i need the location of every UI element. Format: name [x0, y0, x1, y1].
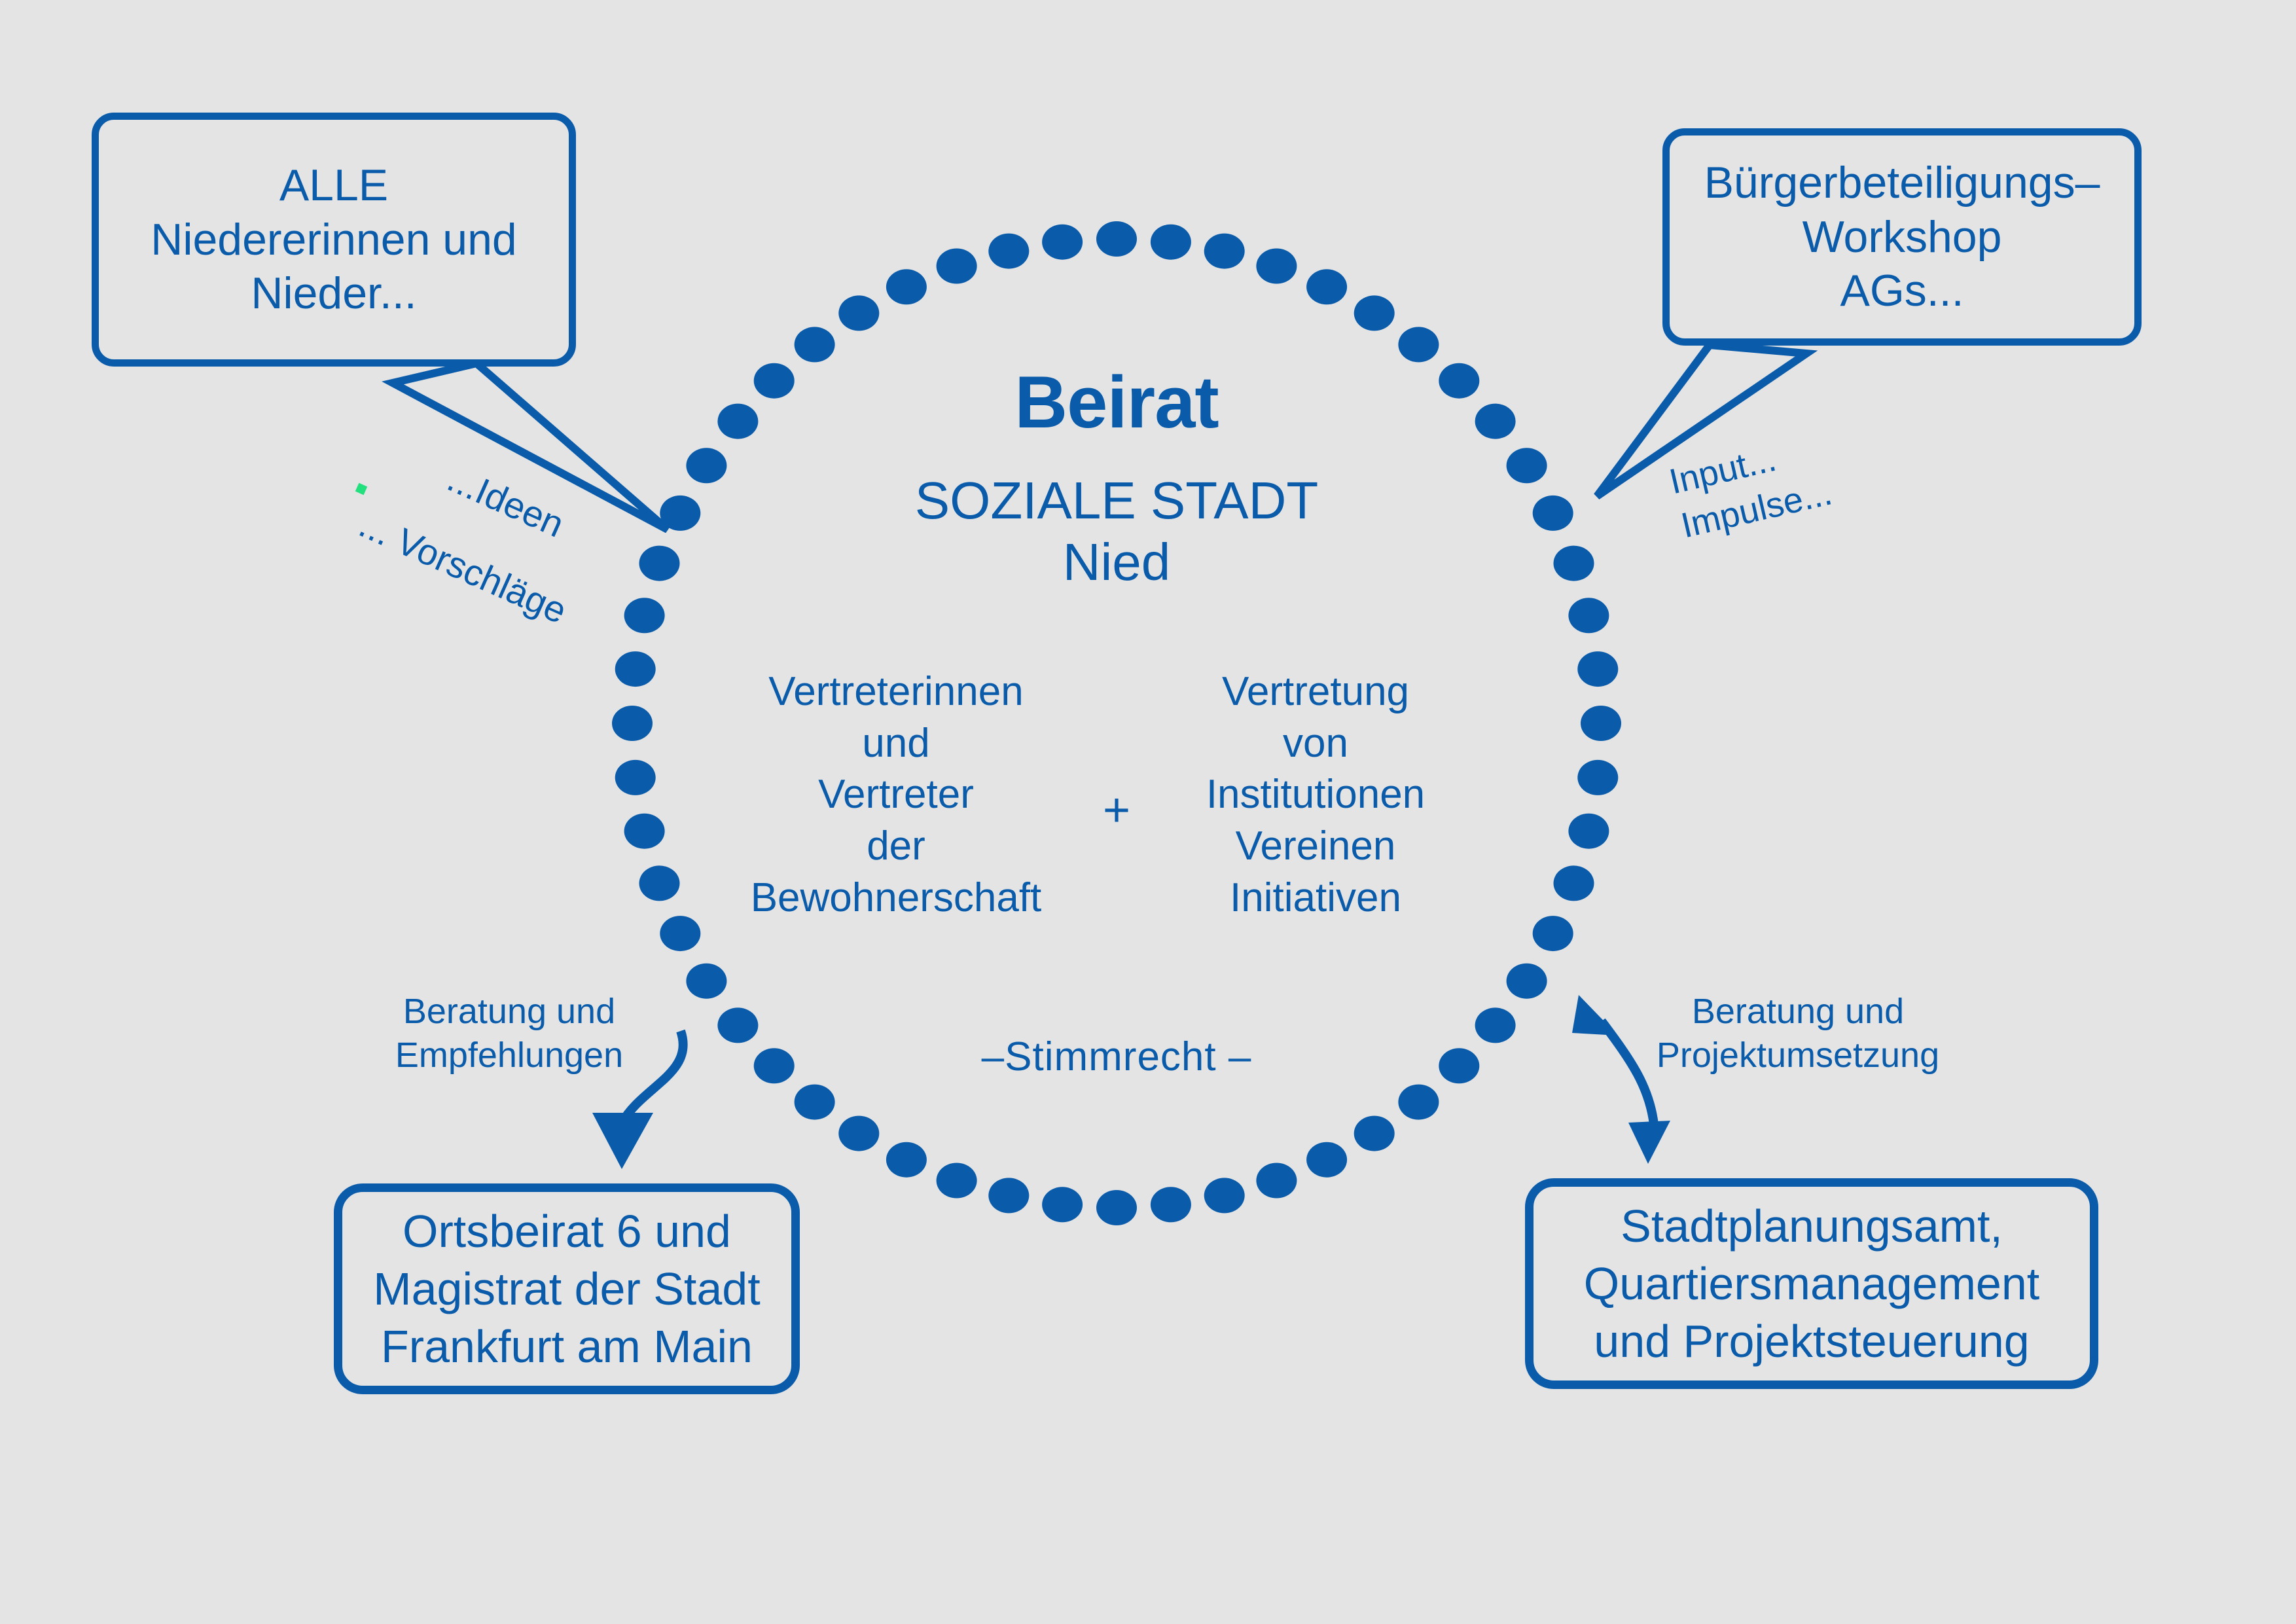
speech-bubble-buergerbeteiligung[interactable]: Bürgerbeteiligungs– Workshop AGs... — [1662, 128, 2142, 346]
speech-bubble-alle[interactable]: ALLE Niedererinnen und Nieder... — [92, 113, 576, 367]
circle-dot — [838, 295, 879, 331]
circle-dot — [1554, 865, 1594, 901]
center-column-right: Vertretung von Institutionen Vereinen In… — [1185, 666, 1446, 924]
circle-dot — [1042, 225, 1083, 260]
circle-dot — [612, 706, 653, 741]
circle-dot — [1398, 327, 1439, 362]
center-title: Beirat — [1014, 361, 1218, 443]
box-ortsbeirat-text: Ortsbeirat 6 und Magistrat der Stadt Fra… — [373, 1202, 760, 1376]
circle-dot — [1096, 221, 1137, 257]
circle-dot — [838, 1116, 879, 1151]
circle-dot — [1306, 269, 1347, 304]
circle-dot — [937, 1163, 977, 1199]
arrow-head-down-left — [592, 1113, 653, 1169]
circle-dot — [988, 234, 1029, 269]
circle-dot — [1507, 448, 1547, 483]
circle-dot — [615, 760, 656, 795]
center-plus-sign: + — [1103, 784, 1130, 837]
circle-dot — [1577, 651, 1618, 687]
circle-dot — [1204, 1178, 1245, 1213]
box-stadtplanungsamt-text: Stadtplanungsamt, Quartiersmanagement un… — [1584, 1197, 2039, 1371]
box-stadtplanungsamt[interactable]: Stadtplanungsamt, Quartiersmanagement un… — [1525, 1178, 2098, 1389]
circle-dot — [639, 865, 680, 901]
circle-dot — [1354, 1116, 1395, 1151]
speech-bubble-buergerbeteiligung-text: Bürgerbeteiligungs– Workshop AGs... — [1704, 156, 2100, 319]
circle-dot — [615, 651, 656, 687]
circle-dot — [660, 916, 700, 951]
circle-dot — [1475, 1007, 1516, 1043]
circle-dot — [937, 249, 977, 284]
green-marker-dot — [355, 483, 367, 495]
circle-dot — [686, 448, 726, 483]
circle-dot — [1439, 1048, 1479, 1083]
circle-dot — [1151, 225, 1191, 260]
center-subtitle: SOZIALE STADT Nied — [915, 470, 1318, 594]
circle-dot — [795, 327, 835, 362]
diagram-canvas: ALLE Niedererinnen und Nieder... Bürgerb… — [0, 0, 2296, 1624]
circle-dot — [686, 964, 726, 999]
circle-dot — [1568, 814, 1609, 849]
circle-dot — [1439, 363, 1479, 399]
circle-dot — [624, 814, 665, 849]
circle-dot — [1042, 1187, 1083, 1222]
circle-dot — [639, 546, 680, 581]
circle-dot — [1151, 1187, 1191, 1222]
arrow-head-down-right — [1628, 1121, 1670, 1164]
circle-dot — [1204, 234, 1245, 269]
circle-dot — [1256, 249, 1297, 284]
circle-dot — [1398, 1085, 1439, 1120]
circle-dot — [886, 1142, 927, 1178]
circle-dot — [1475, 404, 1516, 439]
label-ideen: ...Ideen — [441, 458, 569, 545]
circle-dot — [754, 363, 795, 399]
circle-dot — [795, 1085, 835, 1120]
circle-dot — [1306, 1142, 1347, 1178]
circle-dot — [1256, 1163, 1297, 1199]
circle-dot — [717, 404, 758, 439]
center-stimmrecht-note: –Stimmrecht – — [982, 1034, 1252, 1079]
circle-dot — [1354, 295, 1395, 331]
circle-dot — [1568, 598, 1609, 633]
label-beratung-projektumsetzung: Beratung und Projektumsetzung — [1644, 990, 1952, 1077]
arrow-head-up-right — [1572, 995, 1618, 1036]
label-beratung-empfehlungen: Beratung und Empfehlungen — [378, 990, 640, 1077]
circle-dot — [624, 598, 665, 633]
circle-dot — [1096, 1190, 1137, 1225]
center-column-left: Vertreterinnen und Vertreter der Bewohne… — [742, 666, 1050, 924]
circle-dot — [1507, 964, 1547, 999]
circle-dot — [988, 1178, 1029, 1213]
circle-dot — [754, 1048, 795, 1083]
speech-bubble-alle-text: ALLE Niedererinnen und Nieder... — [151, 158, 517, 321]
box-ortsbeirat[interactable]: Ortsbeirat 6 und Magistrat der Stadt Fra… — [334, 1183, 800, 1394]
circle-dot — [660, 496, 700, 531]
circle-dot — [717, 1007, 758, 1043]
circle-dot — [886, 269, 927, 304]
circle-dot — [1533, 496, 1573, 531]
circle-dot — [1533, 916, 1573, 951]
circle-dot — [1554, 546, 1594, 581]
circle-dot — [1581, 706, 1621, 741]
circle-dot — [1577, 760, 1618, 795]
